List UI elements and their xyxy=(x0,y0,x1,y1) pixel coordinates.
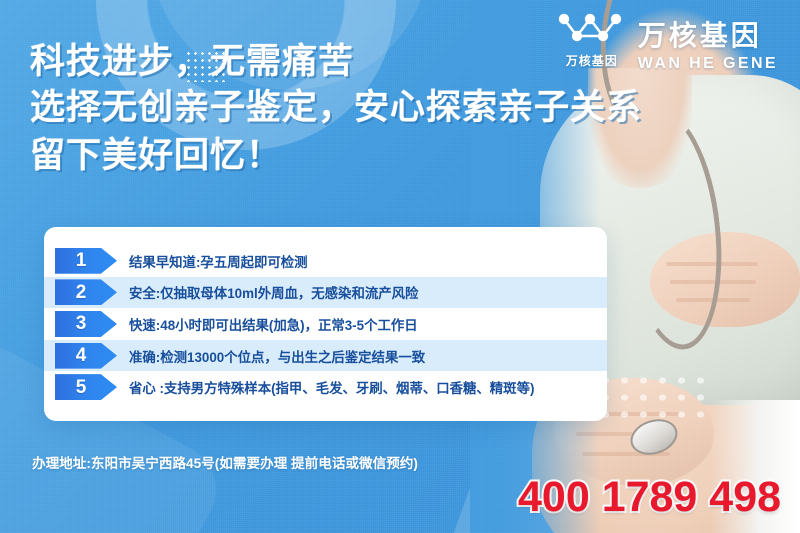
headline-dot-pattern-icon xyxy=(185,50,229,82)
feature-number-3: 3 xyxy=(76,314,87,333)
feature-row-1: 1 结果早知道:孕五周起即可检测 xyxy=(44,245,607,277)
feature-number-badge-2: 2 xyxy=(55,279,117,305)
feature-text-5: 省心 :支持男方特殊样本(指甲、毛发、牙刷、烟蒂、口香糖、精斑等) xyxy=(129,377,534,397)
promo-poster: 万核基因 万核基因 WAN HE GENE 科技进步，无需痛苦 选择无创亲子鉴定… xyxy=(0,0,800,533)
headline-block: 科技进步，无需痛苦 选择无创亲子鉴定，安心探索亲子关系 留下美好回忆！ xyxy=(30,40,642,180)
feature-list-card: 1 结果早知道:孕五周起即可检测 2 安全:仅抽取母体10ml外周血，无感染和流… xyxy=(44,227,607,421)
feature-row-2: 2 安全:仅抽取母体10ml外周血，无感染和流产风险 xyxy=(44,277,607,309)
headline-line-2: 选择无创亲子鉴定，安心探索亲子关系 xyxy=(30,84,642,132)
logo-name-en: WAN HE GENE xyxy=(638,56,778,72)
feature-row-5: 5 省心 :支持男方特殊样本(指甲、毛发、牙刷、烟蒂、口香糖、精斑等) xyxy=(44,371,607,403)
feature-text-3: 快速:48小时即可出结果(加急)，正常3-5个工作日 xyxy=(129,314,418,334)
logo-name-cn: 万核基因 xyxy=(638,22,778,50)
feature-number-badge-5: 5 xyxy=(55,374,117,400)
feature-text-4: 准确:检测13000个位点，与出生之后鉴定结果一致 xyxy=(129,346,425,366)
feature-number-5: 5 xyxy=(76,378,87,397)
dot-grid-decoration xyxy=(596,372,708,424)
phone-number[interactable]: 400 1789 498 xyxy=(518,473,781,522)
feature-text-2: 安全:仅抽取母体10ml外周血，无感染和流产风险 xyxy=(129,282,418,302)
molecule-dna-icon: 万核基因 xyxy=(555,10,629,84)
feature-number-1: 1 xyxy=(76,251,87,270)
feature-number-badge-1: 1 xyxy=(55,248,117,274)
feature-row-4: 4 准确:检测13000个位点，与出生之后鉴定结果一致 xyxy=(44,340,607,372)
brand-logo[interactable]: 万核基因 万核基因 WAN HE GENE xyxy=(555,10,778,84)
feature-number-2: 2 xyxy=(76,283,87,302)
feature-text-1: 结果早知道:孕五周起即可检测 xyxy=(129,251,308,271)
feature-row-3: 3 快速:48小时即可出结果(加急)，正常3-5个工作日 xyxy=(44,308,607,340)
feature-rows: 1 结果早知道:孕五周起即可检测 2 安全:仅抽取母体10ml外周血，无感染和流… xyxy=(44,245,607,403)
feature-number-badge-4: 4 xyxy=(55,343,117,369)
feature-number-4: 4 xyxy=(76,346,87,365)
address-text: 办理地址:东阳市吴宁西路45号(如需要办理 提前电话或微信预约) xyxy=(32,452,418,472)
logo-mark-label: 万核基因 xyxy=(557,52,627,69)
headline-line-1: 科技进步，无需痛苦 xyxy=(30,40,642,84)
headline-line-3: 留下美好回忆！ xyxy=(30,132,642,180)
logo-wordmark: 万核基因 WAN HE GENE xyxy=(638,22,778,72)
feature-number-badge-3: 3 xyxy=(55,311,117,337)
